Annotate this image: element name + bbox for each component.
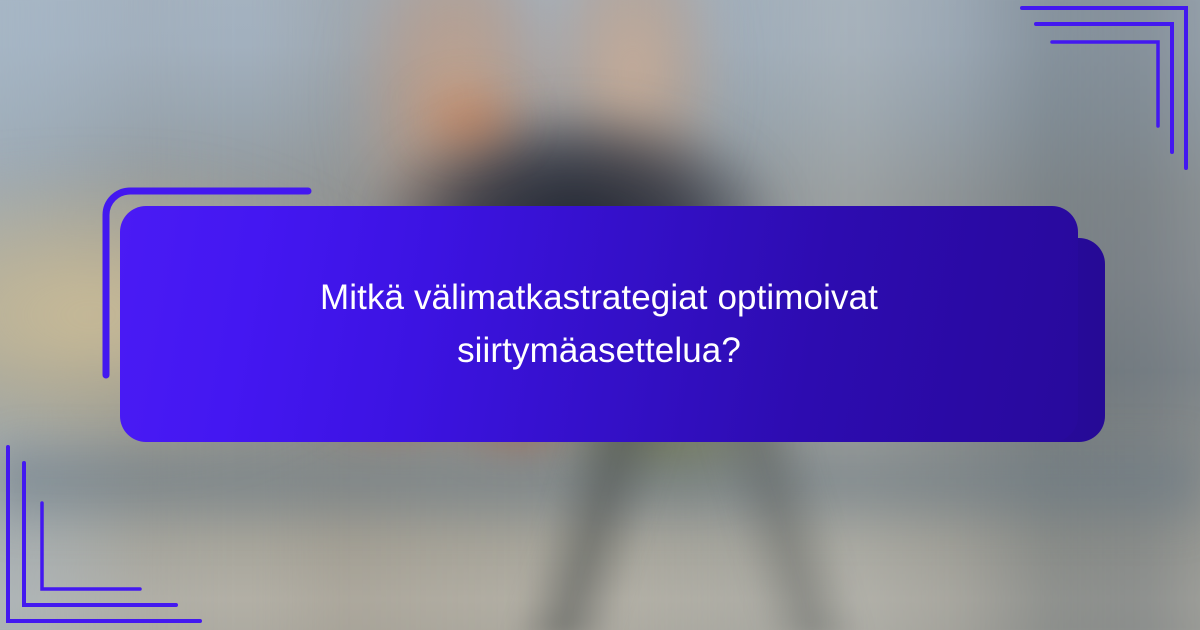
headline-text: Mitkä välimatkastrategiat optimoivat sii…: [219, 271, 979, 377]
question-card-stack: Mitkä välimatkastrategiat optimoivat sii…: [0, 0, 1200, 630]
poster-canvas: Mitkä välimatkastrategiat optimoivat sii…: [0, 0, 1200, 630]
card-text-wrapper: Mitkä välimatkastrategiat optimoivat sii…: [120, 206, 1078, 442]
question-card[interactable]: Mitkä välimatkastrategiat optimoivat sii…: [120, 206, 1078, 442]
